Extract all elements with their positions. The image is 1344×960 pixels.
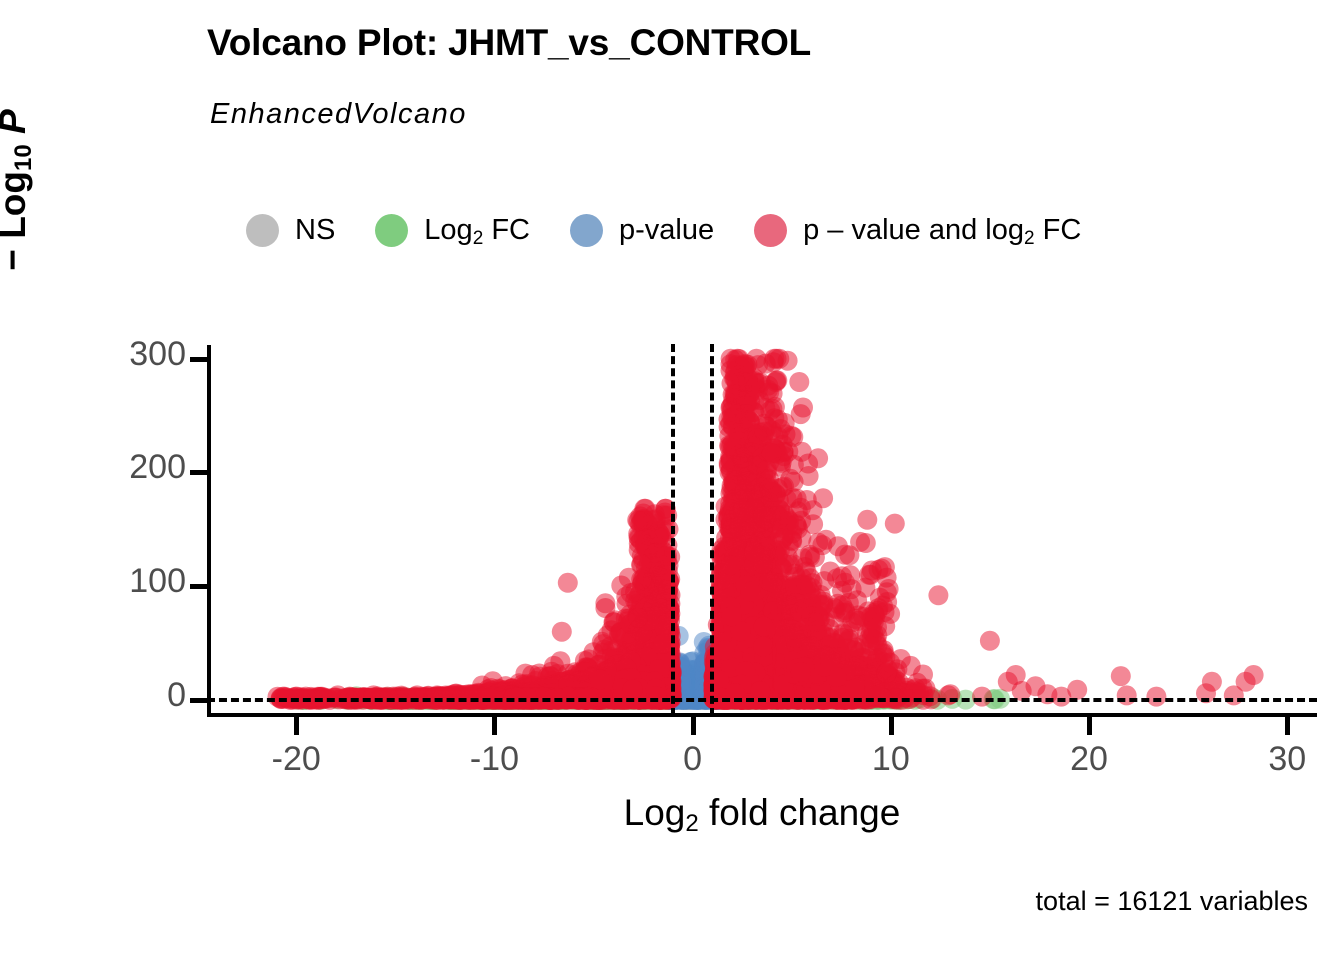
legend-dot-ns-icon bbox=[246, 214, 279, 247]
legend-item-log2fc[interactable]: Log2 FC bbox=[375, 202, 570, 258]
y-tick-200 bbox=[190, 470, 207, 475]
threshold-line-log2fc-negative bbox=[671, 344, 675, 716]
page-title: Volcano Plot: JHMT_vs_CONTROL bbox=[207, 22, 811, 64]
legend-label-pvalue: p-value bbox=[619, 214, 714, 247]
x-tick--10 bbox=[492, 717, 497, 735]
volcano-plot-figure: Volcano Plot: JHMT_vs_CONTROL EnhancedVo… bbox=[0, 0, 1344, 960]
x-tick--20 bbox=[294, 717, 299, 735]
y-tick-100 bbox=[190, 584, 207, 589]
y-tick-label-300: 300 bbox=[129, 335, 186, 374]
x-axis-title-main: Log bbox=[624, 792, 686, 833]
x-axis-title: Log2 fold change bbox=[207, 792, 1317, 834]
x-tick-label-0: 0 bbox=[683, 740, 702, 779]
plot-caption: total = 16121 variables bbox=[1036, 886, 1308, 917]
x-tick-10 bbox=[889, 717, 894, 735]
y-axis-title: − Log10 P bbox=[0, 20, 34, 360]
legend-item-ns[interactable]: NS bbox=[246, 202, 375, 258]
legend: NS Log2 FC p-value p – value and log2 FC bbox=[246, 202, 1121, 258]
x-tick-0 bbox=[691, 717, 696, 735]
x-tick-30 bbox=[1285, 717, 1290, 735]
threshold-line-pvalue bbox=[207, 698, 1317, 702]
y-tick-0 bbox=[190, 698, 207, 703]
y-tick-300 bbox=[190, 357, 207, 362]
y-axis-title-post: P bbox=[0, 109, 33, 134]
y-tick-label-0: 0 bbox=[167, 676, 186, 715]
y-tick-label-200: 200 bbox=[129, 448, 186, 487]
x-tick-label--10: -10 bbox=[470, 740, 519, 779]
x-axis-line bbox=[207, 713, 1317, 717]
y-axis-line bbox=[207, 345, 211, 717]
y-tick-label-100: 100 bbox=[129, 562, 186, 601]
legend-dot-both-icon bbox=[754, 214, 787, 247]
x-tick-20 bbox=[1087, 717, 1092, 735]
x-tick-label-30: 30 bbox=[1268, 740, 1306, 779]
y-axis-title-pre: − Log bbox=[0, 171, 33, 271]
threshold-line-log2fc-positive bbox=[710, 344, 714, 716]
x-axis-title-sub: 2 bbox=[685, 810, 698, 837]
legend-label-both: p – value and log2 FC bbox=[803, 214, 1081, 247]
plot-subtitle: EnhancedVolcano bbox=[210, 98, 467, 131]
x-tick-label--20: -20 bbox=[272, 740, 321, 779]
legend-dot-log2fc-icon bbox=[375, 214, 408, 247]
legend-item-both[interactable]: p – value and log2 FC bbox=[754, 202, 1121, 258]
x-tick-label-20: 20 bbox=[1070, 740, 1108, 779]
legend-dot-pvalue-icon bbox=[570, 214, 603, 247]
legend-label-log2fc: Log2 FC bbox=[424, 214, 530, 247]
legend-label-ns: NS bbox=[295, 214, 335, 247]
x-axis-title-rest: fold change bbox=[699, 792, 901, 833]
legend-item-pvalue[interactable]: p-value bbox=[570, 202, 754, 258]
y-axis-title-sub: 10 bbox=[10, 144, 37, 171]
x-tick-label-10: 10 bbox=[872, 740, 910, 779]
